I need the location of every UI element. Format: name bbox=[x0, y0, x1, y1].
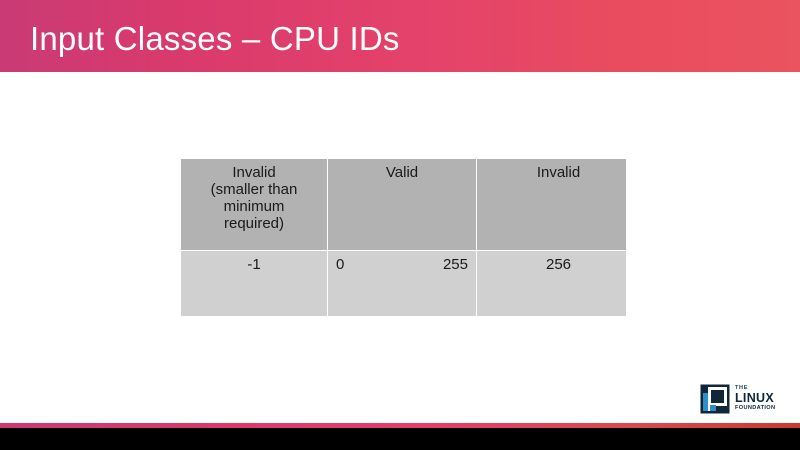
input-classes-table: Invalid (smaller than minimum required) … bbox=[180, 158, 627, 317]
logo-text-foundation: FOUNDATION bbox=[735, 406, 775, 412]
slide: Input Classes – CPU IDs Invalid (smaller… bbox=[0, 0, 800, 450]
linux-foundation-wordmark: THE LINUX FOUNDATION bbox=[735, 386, 775, 412]
value-range-min: 0 bbox=[336, 256, 344, 274]
page-title: Input Classes – CPU IDs bbox=[30, 18, 400, 60]
value-range-max: 255 bbox=[443, 256, 468, 274]
header-line-4: required) bbox=[181, 215, 327, 232]
input-classes-table-container: Invalid (smaller than minimum required) … bbox=[180, 158, 626, 317]
table-header-cell-invalid-high: Invalid bbox=[477, 159, 627, 251]
table-header-cell-invalid-low: Invalid (smaller than minimum required) bbox=[181, 159, 328, 251]
header-label-invalid: Invalid bbox=[477, 164, 626, 181]
header-label-valid: Valid bbox=[328, 164, 476, 181]
table-header: Invalid (smaller than minimum required) … bbox=[181, 159, 627, 251]
linux-foundation-mark-icon bbox=[700, 384, 730, 414]
value-two-fifty-six: 256 bbox=[477, 256, 626, 274]
table-body: -1 0 255 256 bbox=[181, 251, 627, 317]
linux-foundation-logo: THE LINUX FOUNDATION bbox=[700, 383, 784, 415]
valid-range-pair: 0 255 bbox=[328, 256, 476, 274]
table-cell-invalid-high-value: 256 bbox=[477, 251, 627, 317]
header-line-3: minimum bbox=[181, 198, 327, 215]
table-cell-valid-range: 0 255 bbox=[328, 251, 477, 317]
header-line-2: (smaller than bbox=[181, 181, 327, 198]
table-header-row: Invalid (smaller than minimum required) … bbox=[181, 159, 627, 251]
logo-text-linux: LINUX bbox=[735, 392, 775, 405]
footer-black-bar bbox=[0, 428, 800, 450]
table-row: -1 0 255 256 bbox=[181, 251, 627, 317]
value-minus-one: -1 bbox=[181, 256, 327, 274]
table-cell-invalid-low-value: -1 bbox=[181, 251, 328, 317]
header-line-1: Invalid bbox=[181, 164, 327, 181]
table-header-cell-valid: Valid bbox=[328, 159, 477, 251]
